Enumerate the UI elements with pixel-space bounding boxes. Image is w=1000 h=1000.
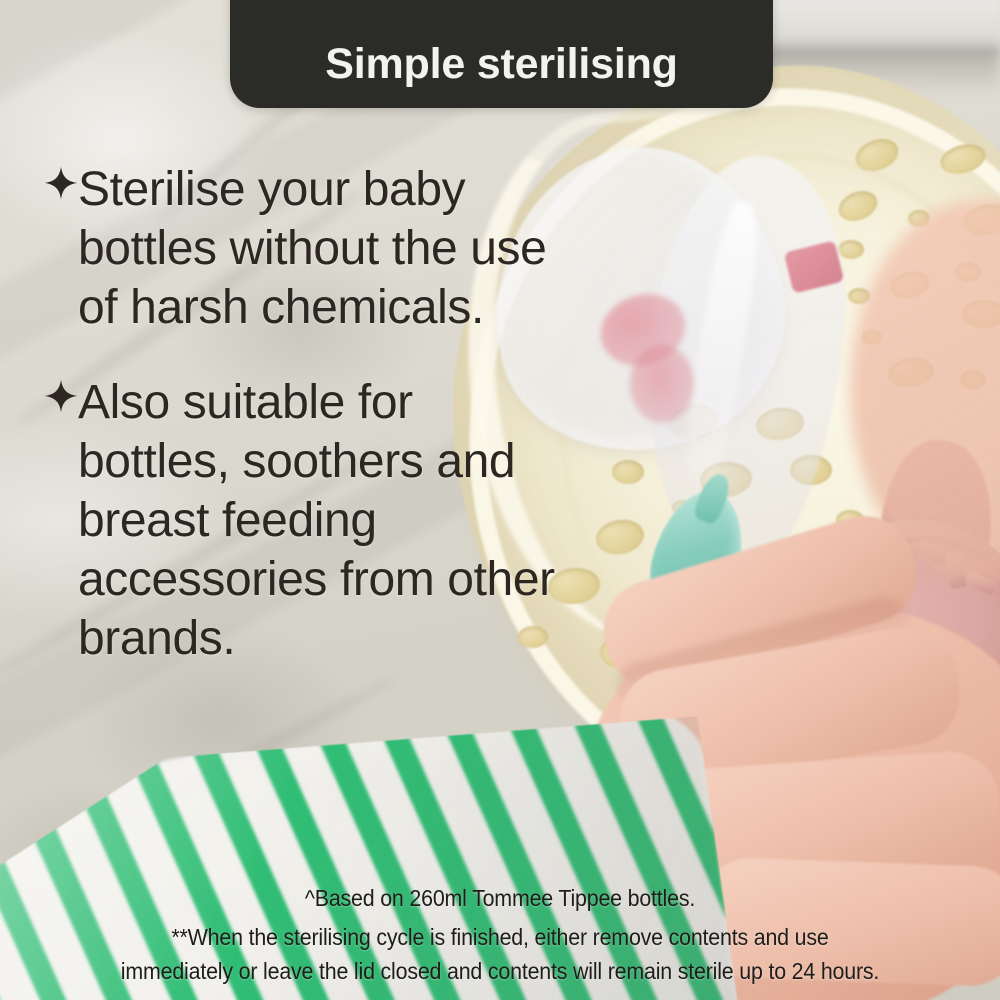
sparkle-icon: [44, 379, 78, 413]
footnote-line-3: immediately or leave the lid closed and …: [35, 954, 965, 988]
footnote-line-1: ^Based on 260ml Tommee Tippee bottles.: [35, 881, 965, 915]
footnote-line-2: **When the sterilising cycle is finished…: [35, 920, 965, 954]
basket-hole: [838, 240, 864, 259]
sparkle-icon: [44, 166, 78, 200]
basket-hole: [612, 460, 644, 484]
benefits-list: Sterilise your baby bottles without the …: [36, 160, 556, 704]
title-banner: Simple sterilising: [230, 0, 773, 108]
marketing-image: Simple sterilising Sterilise your baby b…: [0, 0, 1000, 1000]
pink-accent: [630, 345, 694, 423]
list-item: Sterilise your baby bottles without the …: [36, 160, 556, 337]
list-item-label: Sterilise your baby bottles without the …: [36, 160, 556, 337]
list-item-label: Also suitable for bottles, soothers and …: [36, 373, 556, 668]
page-title: Simple sterilising: [325, 43, 677, 86]
list-item: Also suitable for bottles, soothers and …: [36, 373, 556, 668]
footnotes: ^Based on 260ml Tommee Tippee bottles. *…: [35, 881, 965, 988]
